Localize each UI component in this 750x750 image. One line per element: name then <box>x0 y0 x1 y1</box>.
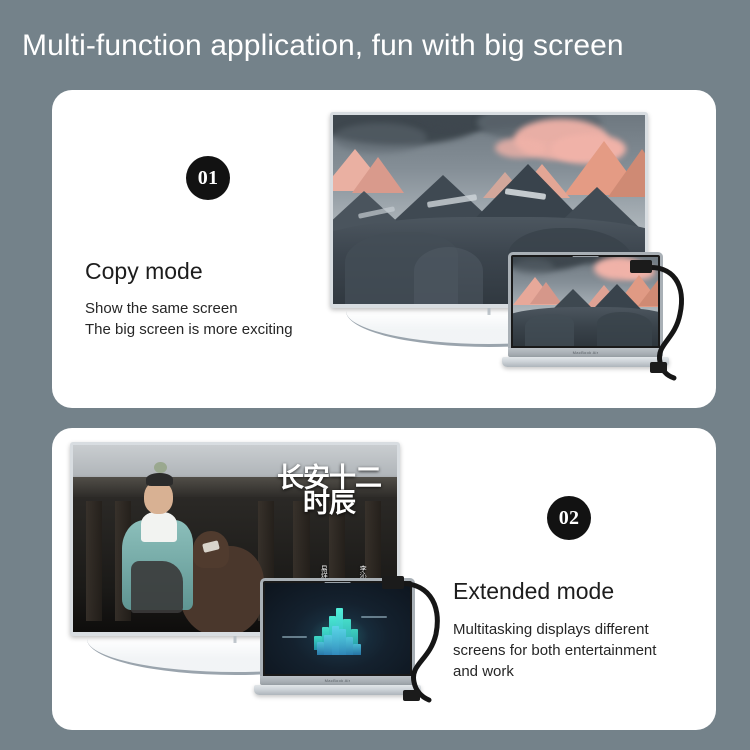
tv-overlay-credit-right: 李沁 <box>358 565 367 579</box>
mode-description-extended: Multitasking displays different screens … <box>453 619 703 682</box>
step-badge-01: 01 <box>186 156 230 200</box>
hdmi-connector-laptop <box>403 690 420 701</box>
page-title: Multi-function application, fun with big… <box>22 26 738 66</box>
mode-card-extended[interactable]: 02 Extended mode Multitasking displays d… <box>52 428 716 730</box>
step-badge-02: 02 <box>547 496 591 540</box>
hdmi-cable <box>382 570 468 705</box>
mode-card-copy[interactable]: 01 Copy mode Show the same screen The bi… <box>52 90 716 408</box>
mode-description-copy: Show the same screen The big screen is m… <box>85 298 355 340</box>
mode-description-line: Show the same screen <box>85 298 355 319</box>
hdmi-connector-tv <box>630 260 652 273</box>
mode-title-extended: Extended mode <box>453 578 614 605</box>
hdmi-connector-laptop <box>650 362 667 373</box>
tv-overlay-title: 长安十二时辰 <box>274 466 384 517</box>
mode-title-copy: Copy mode <box>85 258 203 285</box>
mode-description-line: Multitasking displays different <box>453 619 703 640</box>
mode-description-line: and work <box>453 661 703 682</box>
hdmi-connector-tv <box>382 576 404 589</box>
illustration-extended-mode: 长安十二时辰 易烊千玺 李沁 <box>70 442 470 728</box>
mode-description-line: screens for both entertainment <box>453 640 703 661</box>
mode-description-line: The big screen is more exciting <box>85 319 355 340</box>
illustration-copy-mode: MacBook Air <box>330 112 700 392</box>
